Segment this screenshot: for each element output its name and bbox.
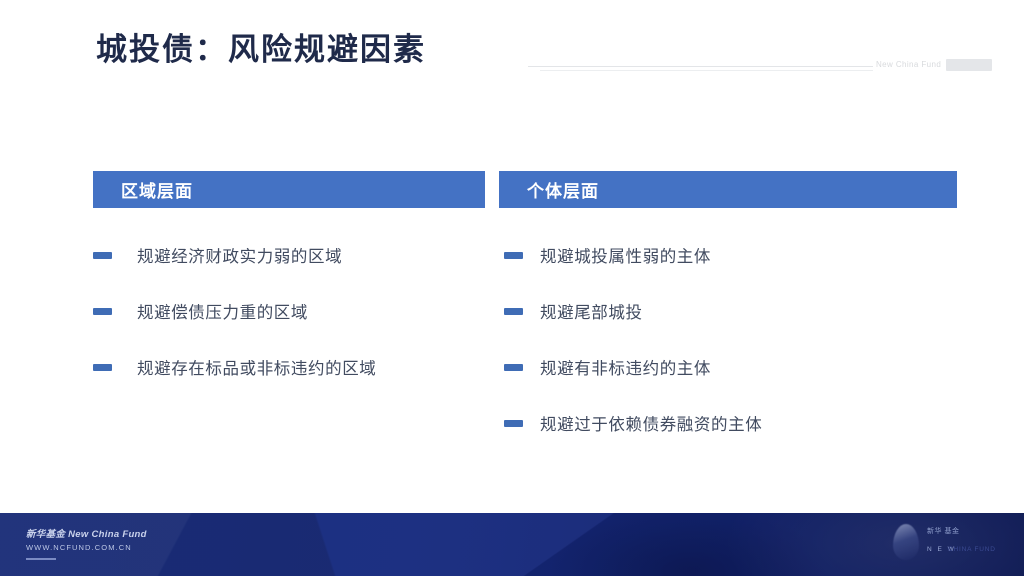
column-individual: 个体层面 规避城投属性弱的主体 规避尾部城投 规避有非标违约的主体 规避过于依赖… (499, 171, 957, 451)
list-item[interactable]: 规避偿债压力重的区域 (93, 283, 485, 339)
column-header-individual: 个体层面 (499, 171, 957, 208)
bullet-dash-icon (93, 364, 112, 371)
logo-chinese-label: 新华 基金 (927, 527, 959, 536)
title-divider-rule (528, 66, 873, 67)
list-item-label: 规避经济财政实力弱的区域 (137, 243, 342, 267)
header-brand-block (946, 59, 992, 71)
column-header-regional-label: 区域层面 (121, 177, 193, 202)
slide-canvas: 城投债：风险规避因素 New China Fund 区域层面 规避经济财政实力弱… (0, 0, 1024, 576)
list-item[interactable]: 规避有非标违约的主体 (499, 339, 957, 395)
list-item-label: 规避有非标违约的主体 (540, 355, 711, 379)
list-item-label: 规避尾部城投 (540, 299, 643, 323)
footer-logo: 新华 基金 N E W CHINA FUND (893, 519, 1013, 567)
column-regional: 区域层面 规避经济财政实力弱的区域 规避偿债压力重的区域 规避存在标品或非标违约… (93, 171, 485, 395)
title-divider-rule-secondary (540, 70, 873, 71)
list-item[interactable]: 规避城投属性弱的主体 (499, 227, 957, 283)
list-item[interactable]: 规避尾部城投 (499, 283, 957, 339)
footer-band: 新华基金 New China Fund WWW.NCFUND.COM.CN (0, 513, 1024, 576)
bullet-list-individual: 规避城投属性弱的主体 规避尾部城投 规避有非标违约的主体 规避过于依赖债券融资的… (499, 227, 957, 451)
column-header-regional: 区域层面 (93, 171, 485, 208)
bullet-dash-icon (504, 364, 523, 371)
bullet-dash-icon (93, 308, 112, 315)
bullet-dash-icon (504, 308, 523, 315)
bullet-dash-icon (93, 252, 112, 259)
footer-brand-label: 新华基金 New China Fund (26, 526, 147, 540)
bullet-dash-icon (504, 420, 523, 427)
list-item-label: 规避城投属性弱的主体 (540, 243, 711, 267)
list-item-label: 规避偿债压力重的区域 (137, 299, 308, 323)
list-item[interactable]: 规避过于依赖债券融资的主体 (499, 395, 957, 451)
footer-website-label[interactable]: WWW.NCFUND.COM.CN (26, 543, 132, 552)
bullet-dash-icon (504, 252, 523, 259)
header-brand-label: New China Fund (876, 60, 941, 69)
footer-facet-texture (0, 513, 1024, 576)
list-item[interactable]: 规避存在标品或非标违约的区域 (93, 339, 485, 395)
footer-accent-underline (26, 558, 56, 560)
bullet-list-regional: 规避经济财政实力弱的区域 规避偿债压力重的区域 规避存在标品或非标违约的区域 (93, 227, 485, 395)
list-item[interactable]: 规避经济财政实力弱的区域 (93, 227, 485, 283)
list-item-label: 规避过于依赖债券融资的主体 (540, 411, 762, 435)
logo-english-label: CHINA FUND (948, 546, 996, 553)
logo-mark-icon (893, 524, 919, 560)
page-title: 城投债：风险规避因素 (96, 28, 426, 72)
list-item-label: 规避存在标品或非标违约的区域 (137, 355, 376, 379)
column-header-individual-label: 个体层面 (527, 177, 599, 202)
